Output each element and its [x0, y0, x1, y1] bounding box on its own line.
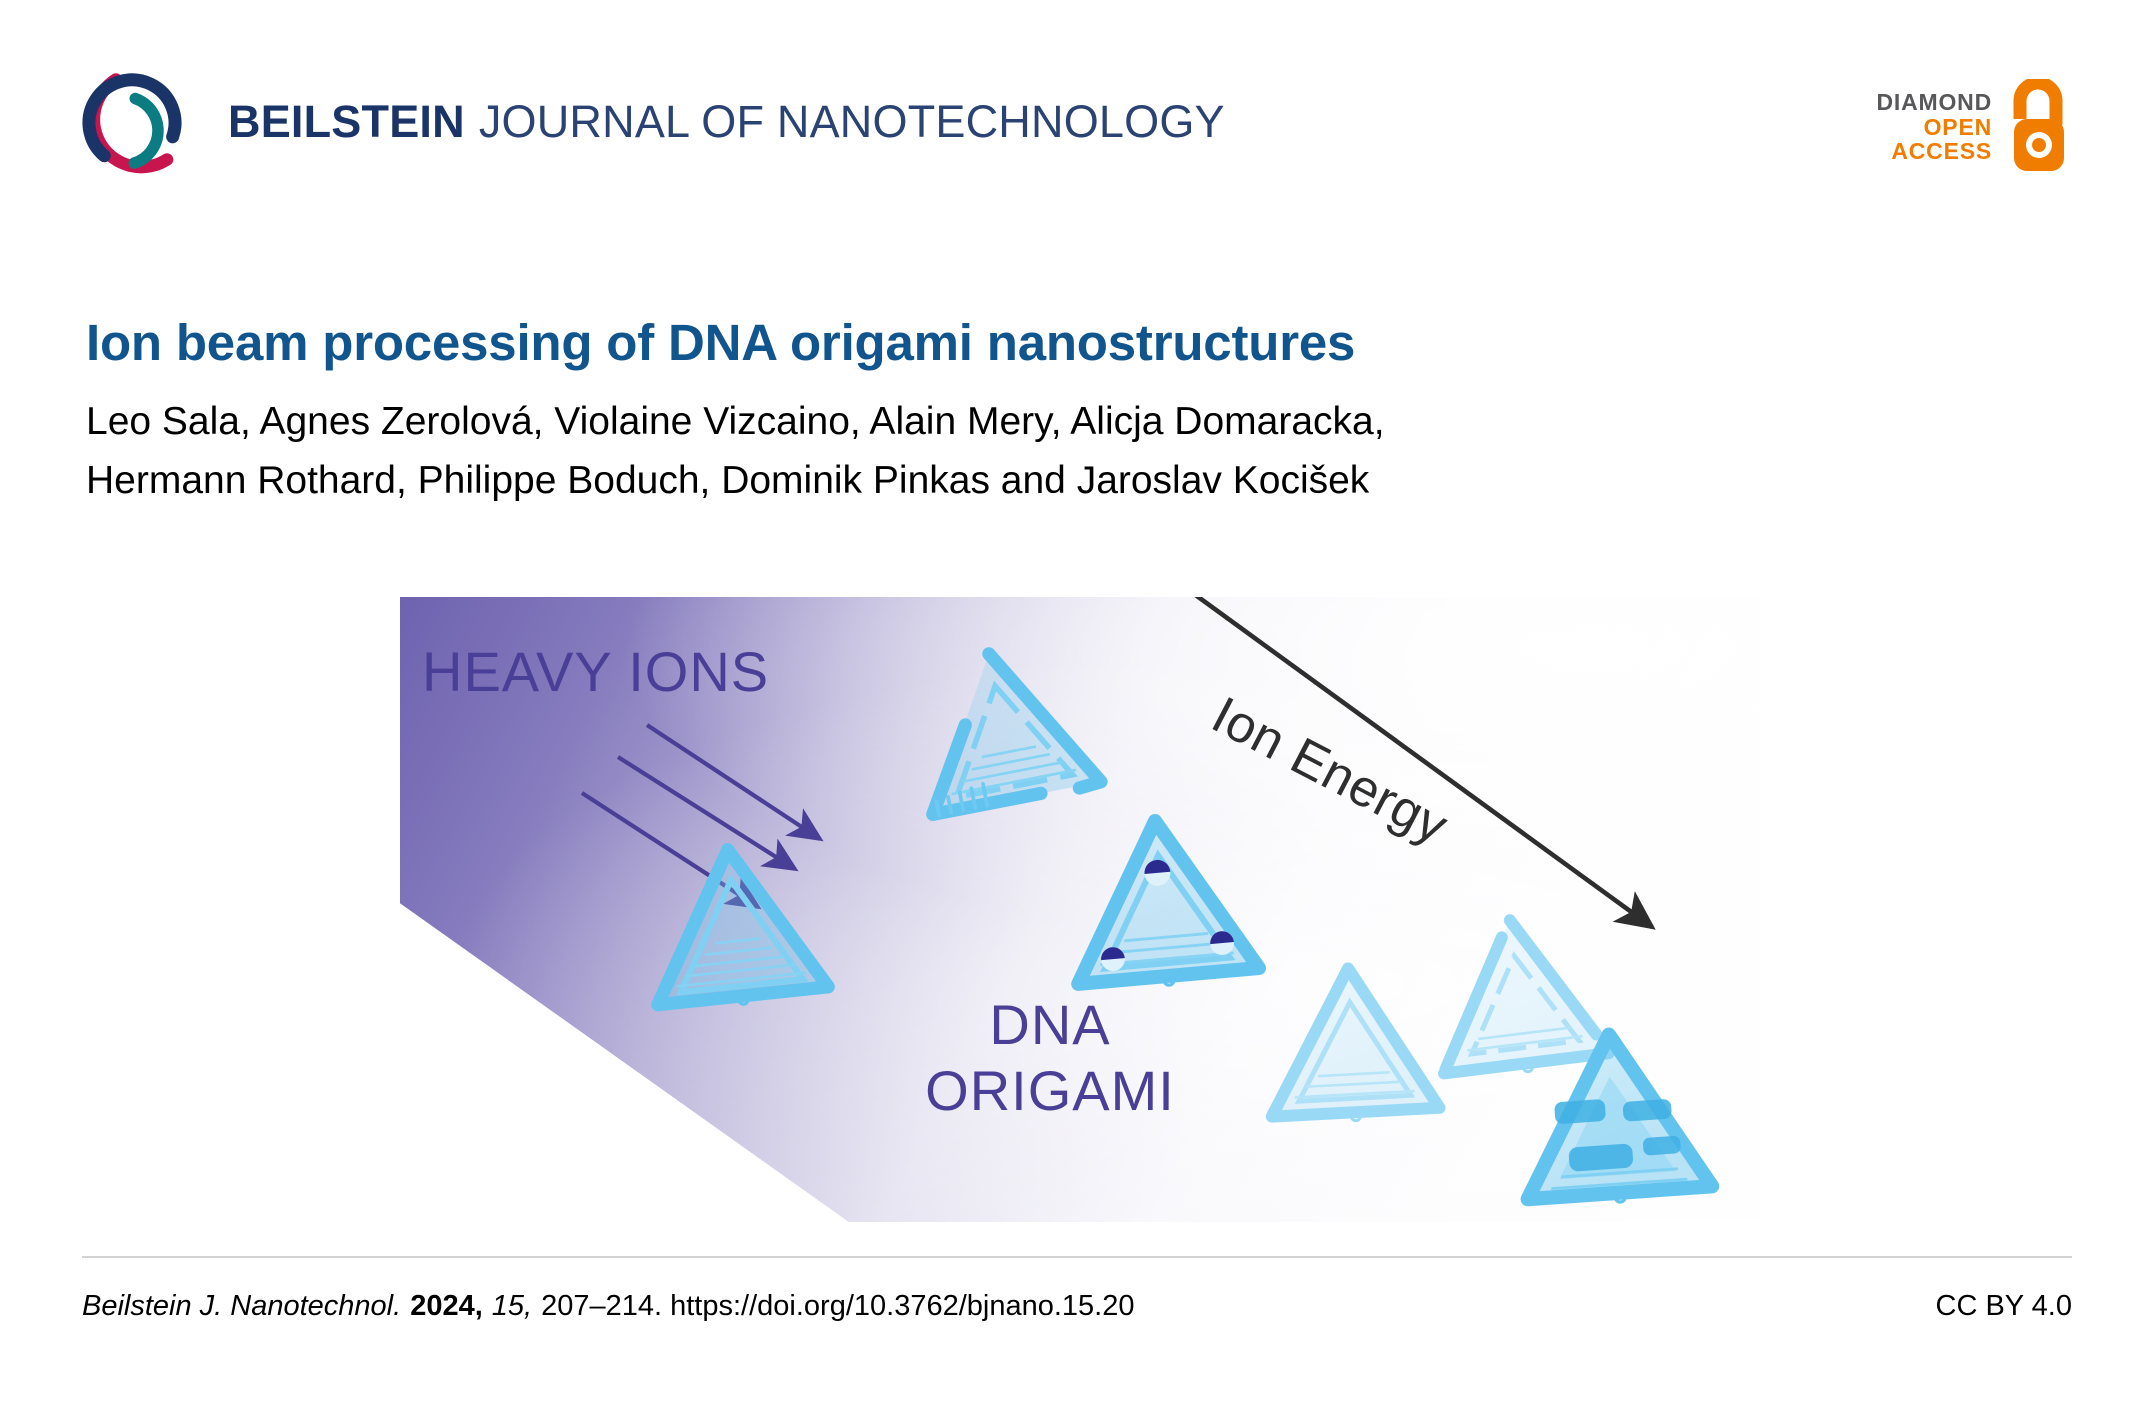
dna-origami-triangle — [1426, 910, 1611, 1082]
graphical-abstract-canvas: HEAVY IONS DNA ORIGAMI Ion Energy — [400, 597, 1760, 1222]
citation-year: 2024, — [410, 1290, 483, 1322]
footer-divider — [82, 1256, 2072, 1258]
dna-origami-triangle — [905, 638, 1102, 817]
license-label: CC BY 4.0 — [1936, 1290, 2072, 1323]
open-access-label-open: OPEN — [1877, 115, 1992, 139]
citation: Beilstein J. Nanotechnol.2024,15,207–214… — [82, 1290, 1143, 1323]
footer: Beilstein J. Nanotechnol.2024,15,207–214… — [82, 1290, 2072, 1323]
citation-journal: Beilstein J. Nanotechnol. — [82, 1290, 401, 1322]
diamond-open-access-badge: DIAMOND OPEN ACCESS — [1877, 72, 2072, 182]
dna-origami-triangle — [1264, 964, 1440, 1125]
dna-origami-label-line2: ORIGAMI — [900, 1058, 1200, 1124]
open-access-label-group: DIAMOND OPEN ACCESS — [1877, 90, 1992, 163]
wordmark-journal-of-nanotechnology: JOURNAL OF NANOTECHNOLOGY — [479, 96, 1225, 148]
citation-volume: 15, — [492, 1290, 532, 1322]
article-cover-page: BEILSTEIN JOURNAL OF NANOTECHNOLOGY DIAM… — [0, 0, 2150, 1402]
wordmark-beilstein: BEILSTEIN — [228, 96, 465, 148]
open-padlock-icon — [2006, 79, 2072, 175]
open-access-label-diamond: DIAMOND — [1877, 90, 1992, 114]
dna-origami-triangle — [642, 841, 829, 1014]
beilstein-swirl-logo-icon — [78, 63, 196, 181]
journal-masthead: BEILSTEIN JOURNAL OF NANOTECHNOLOGY — [78, 62, 1225, 182]
dna-origami-label-line1: DNA — [900, 992, 1200, 1058]
ion-beam-arrow-group — [582, 725, 820, 907]
author-line: Hermann Rothard, Philippe Boduch, Domini… — [86, 451, 2066, 510]
ion-beam-arrow — [618, 757, 795, 869]
journal-wordmark: BEILSTEIN JOURNAL OF NANOTECHNOLOGY — [228, 96, 1225, 148]
dna-origami-label: DNA ORIGAMI — [900, 992, 1200, 1124]
author-list: Leo Sala, Agnes Zerolová, Violaine Vizca… — [86, 392, 2066, 511]
dna-origami-triangle — [1065, 813, 1260, 993]
open-access-label-access: ACCESS — [1877, 139, 1992, 163]
heavy-ions-label: HEAVY IONS — [422, 639, 769, 704]
graphical-abstract-figure: HEAVY IONS DNA ORIGAMI Ion Energy — [400, 597, 1760, 1222]
author-line: Leo Sala, Agnes Zerolová, Violaine Vizca… — [86, 392, 2066, 451]
page-title: Ion beam processing of DNA origami nanos… — [86, 314, 2046, 373]
ion-beam-arrow — [647, 725, 820, 839]
citation-pages-doi[interactable]: 207–214. https://doi.org/10.3762/bjnano.… — [541, 1290, 1134, 1322]
